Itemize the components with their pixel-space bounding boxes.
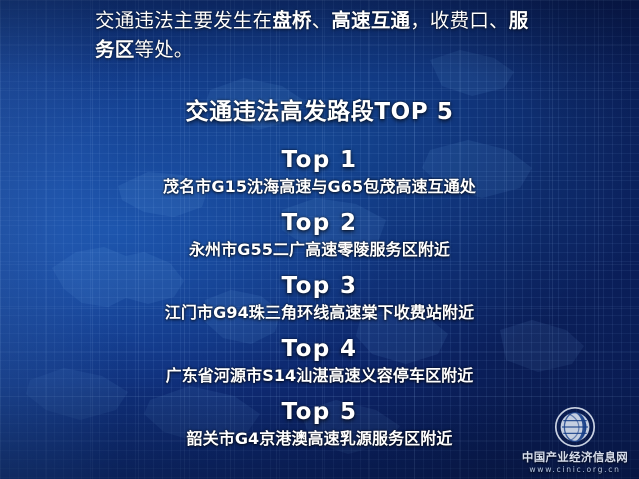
watermark-site-url: www.cinic.org.cn [517, 464, 633, 475]
lead-run-1: 盘桥 [272, 9, 311, 32]
lead-run-3: 高速互通 [331, 9, 410, 32]
ranking-item-3: Top 3江门市G94珠三角环线高速棠下收费站附近 [0, 272, 639, 324]
watermark-site-name: 中国产业经济信息网 [517, 451, 633, 464]
ranking-location: 广东省河源市S14汕湛高速义容停车区附近 [0, 364, 639, 387]
lead-run-0: 交通违法主要发生在 [95, 9, 272, 32]
lead-run-2: 、 [312, 9, 332, 32]
section-title: 交通违法高发路段TOP 5 [0, 92, 639, 126]
ranking-location: 永州市G55二广高速零陵服务区附近 [0, 238, 639, 261]
lead-run-4: ，收费口、 [410, 9, 509, 32]
ranking-item-2: Top 2永州市G55二广高速零陵服务区附近 [0, 209, 639, 261]
ranking-location: 茂名市G15沈海高速与G65包茂高速互通处 [0, 175, 639, 198]
ranking-item-1: Top 1茂名市G15沈海高速与G65包茂高速互通处 [0, 146, 639, 198]
poster-canvas: 交通违法主要发生在盘桥、高速互通，收费口、服务区等处。 交通违法高发路段TOP … [0, 0, 639, 479]
ranking-label: Top 3 [0, 272, 639, 301]
globe-emblem-icon [554, 406, 596, 448]
site-watermark: 中国产业经济信息网 www.cinic.org.cn [517, 406, 633, 475]
lead-paragraph: 交通违法主要发生在盘桥、高速互通，收费口、服务区等处。 [95, 6, 547, 64]
ranking-label: Top 2 [0, 209, 639, 238]
ranking-item-4: Top 4广东省河源市S14汕湛高速义容停车区附近 [0, 335, 639, 387]
ranking-label: Top 4 [0, 335, 639, 364]
lead-run-6: 等处。 [134, 38, 193, 61]
ranking-location: 江门市G94珠三角环线高速棠下收费站附近 [0, 301, 639, 324]
ranking-label: Top 1 [0, 146, 639, 175]
